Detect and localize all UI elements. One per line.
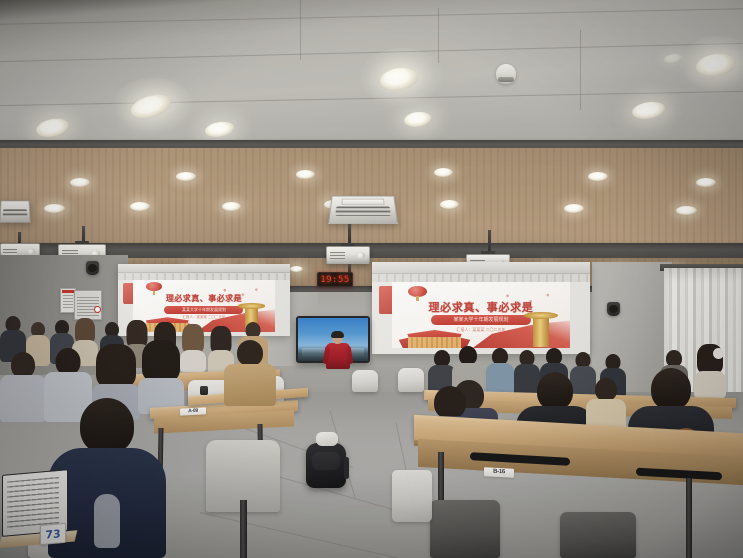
audience-person — [224, 340, 276, 406]
ac-inner-panel — [342, 198, 385, 204]
person-head — [237, 340, 263, 366]
gold-column-icon — [533, 317, 549, 347]
person-head — [595, 378, 617, 401]
led-clock: 19:55 — [317, 272, 353, 287]
item-on-backpack — [316, 432, 338, 446]
screen-top-bar — [118, 264, 290, 273]
person-hair — [142, 340, 180, 382]
desk-cup — [200, 386, 208, 395]
hair-tie-icon — [713, 348, 724, 359]
notice-text-lines — [63, 295, 73, 310]
ceiling-downlight — [70, 178, 90, 187]
ac-cassette-unit — [0, 200, 31, 222]
smoke-detector-icon — [496, 64, 516, 84]
lantern-icon — [408, 286, 428, 297]
ceiling-downlight — [564, 204, 584, 213]
desk-name-tag: A-09 — [180, 407, 206, 415]
classroom-chair — [392, 470, 432, 522]
classroom-chair — [430, 500, 500, 558]
chair-post — [240, 500, 247, 558]
laptop-number-value: 73 — [45, 527, 60, 541]
presenter — [325, 332, 351, 372]
classroom-chair — [398, 368, 424, 392]
classroom-chair — [560, 512, 636, 558]
wall-speaker-icon — [86, 261, 99, 275]
slide-pill-text: 某某大学十年期发展规划 — [431, 315, 531, 325]
screen-ribbon-bar — [372, 274, 590, 282]
lecture-hall-photo: 19:55 理必求真、事必求是 某某大学十年期发展规划 汇报人：某某某 二〇二五… — [0, 0, 743, 558]
laptop-screen-text — [7, 477, 59, 530]
ceiling-downlight — [44, 204, 65, 213]
ceiling-downlight — [176, 172, 196, 181]
wall-speaker-icon — [607, 302, 620, 316]
audience-person — [0, 352, 46, 422]
classroom-chair — [352, 370, 378, 392]
led-clock-time: 19:55 — [320, 275, 350, 285]
ceiling-downlight — [434, 168, 453, 177]
slab-seam — [300, 0, 301, 60]
ceiling-downlight — [296, 170, 315, 179]
person-head — [651, 368, 691, 410]
desk-name-tag: B-16 — [484, 467, 514, 478]
presenter-hair — [331, 331, 344, 338]
ac-grille — [335, 207, 390, 216]
slab-seam — [0, 8, 743, 25]
projector-mount — [348, 224, 351, 244]
notice-seal-icon — [94, 306, 101, 313]
slide-pill-text: 某某大学十年期发展规划 — [164, 306, 243, 314]
ac-grille — [3, 209, 27, 216]
right-projection-screen: 理必求真、事必求是 某某大学十年期发展规划 汇报人：某某某 二〇二五年 — [372, 262, 590, 354]
ac-cassette-unit — [328, 196, 398, 224]
person-head — [56, 348, 81, 375]
floor-tile-seam — [200, 512, 405, 558]
wall-notice — [74, 290, 102, 320]
slab-seam — [438, 8, 439, 63]
backpack-strap — [344, 457, 349, 479]
person-head — [537, 372, 573, 410]
ceiling-downlight — [290, 266, 303, 272]
presentation-slide-right: 理必求真、事必求是 某某大学十年期发展规划 汇报人：某某某 二〇二五年 — [392, 282, 571, 348]
person-hair — [96, 344, 136, 388]
desk-tag-text: A-09 — [180, 407, 206, 415]
screen-top-bar — [372, 262, 590, 274]
laptop-number-tag: 73 — [40, 523, 66, 545]
ceiling-downlight — [222, 202, 241, 211]
ceiling-downlight — [676, 206, 697, 215]
person-torso — [0, 375, 46, 422]
ceiling-downlight — [696, 178, 716, 187]
hoodie-graphic — [94, 494, 120, 548]
backpack-on-floor — [306, 443, 346, 488]
desk-leg — [686, 478, 692, 558]
notice-header-band — [62, 290, 74, 293]
slide-subtitle-pill: 某某大学十年期发展规划 — [164, 306, 243, 314]
ceiling-downlight — [440, 200, 459, 209]
ceiling-projector — [326, 246, 370, 264]
projector-mount — [488, 230, 491, 252]
person-head — [80, 398, 134, 454]
lantern-icon — [146, 282, 162, 291]
slab-seam — [580, 30, 581, 110]
ceiling-downlight — [588, 172, 608, 181]
desk-tag-text: B-16 — [484, 467, 514, 478]
person-torso — [224, 364, 276, 406]
person-head — [434, 386, 466, 419]
slide-subtitle-pill: 某某大学十年期发展规划 — [431, 315, 531, 325]
ceiling-downlight — [130, 202, 150, 211]
